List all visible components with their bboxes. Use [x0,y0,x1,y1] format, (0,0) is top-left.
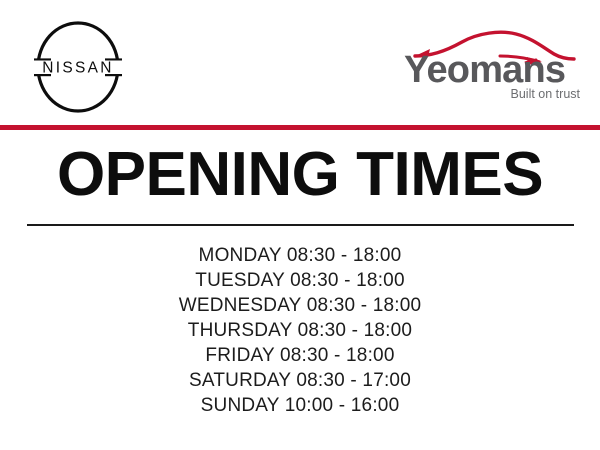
yeomans-logo-mark: Yeomans Built on trust [404,26,582,106]
red-divider-bar [0,125,600,130]
nissan-logo: NISSAN [22,21,134,113]
opening-hours-list: MONDAY 08:30 - 18:00 TUESDAY 08:30 - 18:… [0,243,600,418]
brand-header: NISSAN Yeomans Built on trust [0,0,600,125]
hours-row: SUNDAY 10:00 - 16:00 [0,393,600,418]
yeomans-tagline: Built on trust [511,87,581,101]
hours-row: WEDNESDAY 08:30 - 18:00 [0,293,600,318]
hours-row: FRIDAY 08:30 - 18:00 [0,343,600,368]
hours-row: SATURDAY 08:30 - 17:00 [0,368,600,393]
title-underline-rule [27,224,574,226]
yeomans-logo: Yeomans Built on trust [404,26,582,106]
page-title: OPENING TIMES [0,143,600,207]
nissan-wordmark: NISSAN [42,60,114,77]
yeomans-wordmark: Yeomans [404,49,565,91]
hours-row: THURSDAY 08:30 - 18:00 [0,318,600,343]
hours-row: TUESDAY 08:30 - 18:00 [0,268,600,293]
hours-row: MONDAY 08:30 - 18:00 [0,243,600,268]
nissan-logo-mark: NISSAN [22,21,134,113]
